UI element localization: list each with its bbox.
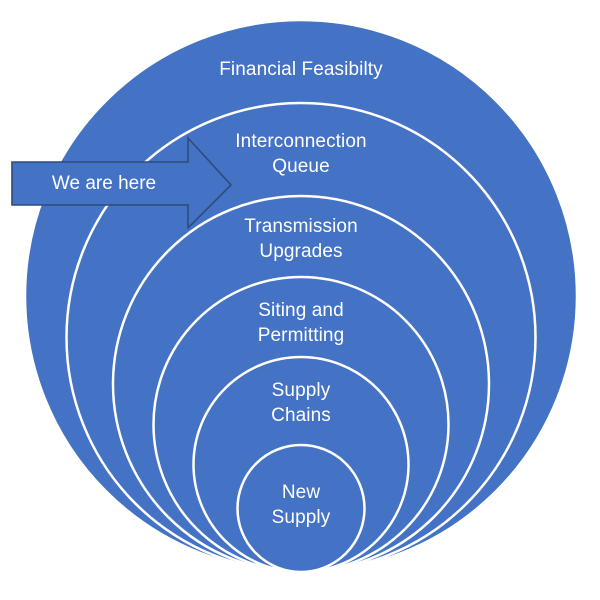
nested-circles-diagram: Financial Feasibilty Interconnection Que…	[0, 0, 600, 600]
ring-label-transmission-upgrades-line2: Upgrades	[259, 241, 342, 262]
ring-label-interconnection-queue-line2: Queue	[272, 156, 330, 177]
ring-label-siting-and-permitting-line1: Siting and	[258, 300, 344, 321]
ring-label-new-supply-line2: Supply	[272, 507, 331, 528]
ring-label-supply-chains-line1: Supply	[272, 380, 331, 401]
ring-label-new-supply-line1: New	[282, 482, 320, 503]
ring-label-interconnection-queue-line1: Interconnection	[235, 131, 366, 152]
ring-label-siting-and-permitting-line2: Permitting	[258, 325, 345, 346]
ring-label-transmission-upgrades-line1: Transmission	[244, 216, 357, 237]
ring-label-financial-feasibility: Financial Feasibilty	[219, 59, 383, 80]
ring-label-supply-chains-line2: Chains	[271, 405, 331, 426]
diagram-canvas: Financial Feasibilty Interconnection Que…	[0, 0, 600, 600]
we-are-here-label: We are here	[52, 173, 156, 194]
